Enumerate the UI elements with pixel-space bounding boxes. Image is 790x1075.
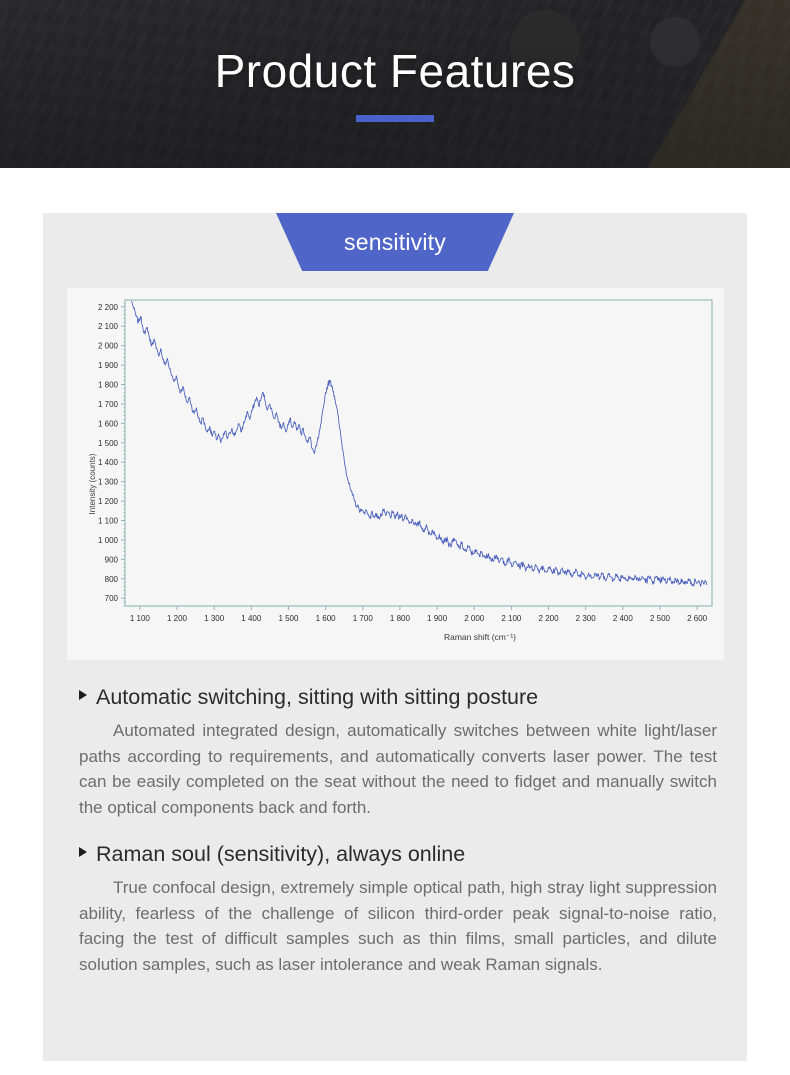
svg-text:2 600: 2 600 [687,614,708,623]
feature-heading: Raman soul (sensitivity), always online [96,840,465,869]
svg-text:800: 800 [105,575,119,584]
svg-text:1 200: 1 200 [98,497,119,506]
feature-panel: sensitivity 1 1001 2001 3001 4001 5001 6… [43,213,747,1061]
banner-content: Product Features [0,0,790,168]
title-underline-rule [356,115,434,122]
feature-body: True confocal design, extremely simple o… [79,875,719,977]
svg-text:1 100: 1 100 [98,517,119,526]
svg-text:1 600: 1 600 [98,419,119,428]
svg-text:2 400: 2 400 [613,614,634,623]
svg-text:1 300: 1 300 [204,614,225,623]
triangle-bullet-icon [79,690,87,700]
svg-text:1 400: 1 400 [241,614,262,623]
svg-text:1 100: 1 100 [130,614,151,623]
feature-heading: Automatic switching, sitting with sittin… [96,683,538,712]
feature-item: Automatic switching, sitting with sittin… [79,683,719,820]
svg-text:2 500: 2 500 [650,614,671,623]
svg-text:1 400: 1 400 [98,458,119,467]
chart-y-axis-label: Intensity (counts) [88,453,97,514]
svg-text:1 500: 1 500 [278,614,299,623]
chart-x-axis-label: Raman shift (cm⁻¹) [444,632,516,642]
feature-heading-row: Raman soul (sensitivity), always online [79,840,719,869]
svg-text:1 000: 1 000 [98,536,119,545]
svg-text:1 300: 1 300 [98,478,119,487]
page-title: Product Features [215,46,576,97]
chart-svg: 1 1001 2001 3001 4001 5001 6001 7001 800… [67,288,724,660]
chart-canvas [67,288,724,660]
triangle-bullet-icon [79,847,87,857]
svg-text:2 100: 2 100 [98,322,119,331]
svg-text:700: 700 [105,594,119,603]
svg-text:1 900: 1 900 [427,614,448,623]
svg-text:1 700: 1 700 [98,400,119,409]
feature-list: Automatic switching, sitting with sittin… [79,683,719,977]
svg-text:900: 900 [105,555,119,564]
feature-heading-row: Automatic switching, sitting with sittin… [79,683,719,712]
svg-text:2 100: 2 100 [501,614,522,623]
svg-text:2 200: 2 200 [98,303,119,312]
svg-text:2 000: 2 000 [464,614,485,623]
svg-text:1 900: 1 900 [98,361,119,370]
raman-spectrum-chart: 1 1001 2001 3001 4001 5001 6001 7001 800… [67,288,724,660]
page-banner: Product Features [0,0,790,168]
svg-text:1 500: 1 500 [98,439,119,448]
svg-text:2 200: 2 200 [539,614,560,623]
svg-text:2 000: 2 000 [98,342,119,351]
svg-text:1 700: 1 700 [353,614,374,623]
svg-text:1 200: 1 200 [167,614,188,623]
svg-text:1 800: 1 800 [98,381,119,390]
tab-sensitivity[interactable]: sensitivity [276,213,514,271]
section-tab-wrapper: sensitivity [43,213,747,271]
svg-text:1 600: 1 600 [316,614,337,623]
svg-text:2 300: 2 300 [576,614,597,623]
feature-body: Automated integrated design, automatical… [79,718,719,820]
tab-sensitivity-label: sensitivity [344,229,446,256]
svg-text:1 800: 1 800 [390,614,411,623]
feature-item: Raman soul (sensitivity), always online … [79,840,719,977]
